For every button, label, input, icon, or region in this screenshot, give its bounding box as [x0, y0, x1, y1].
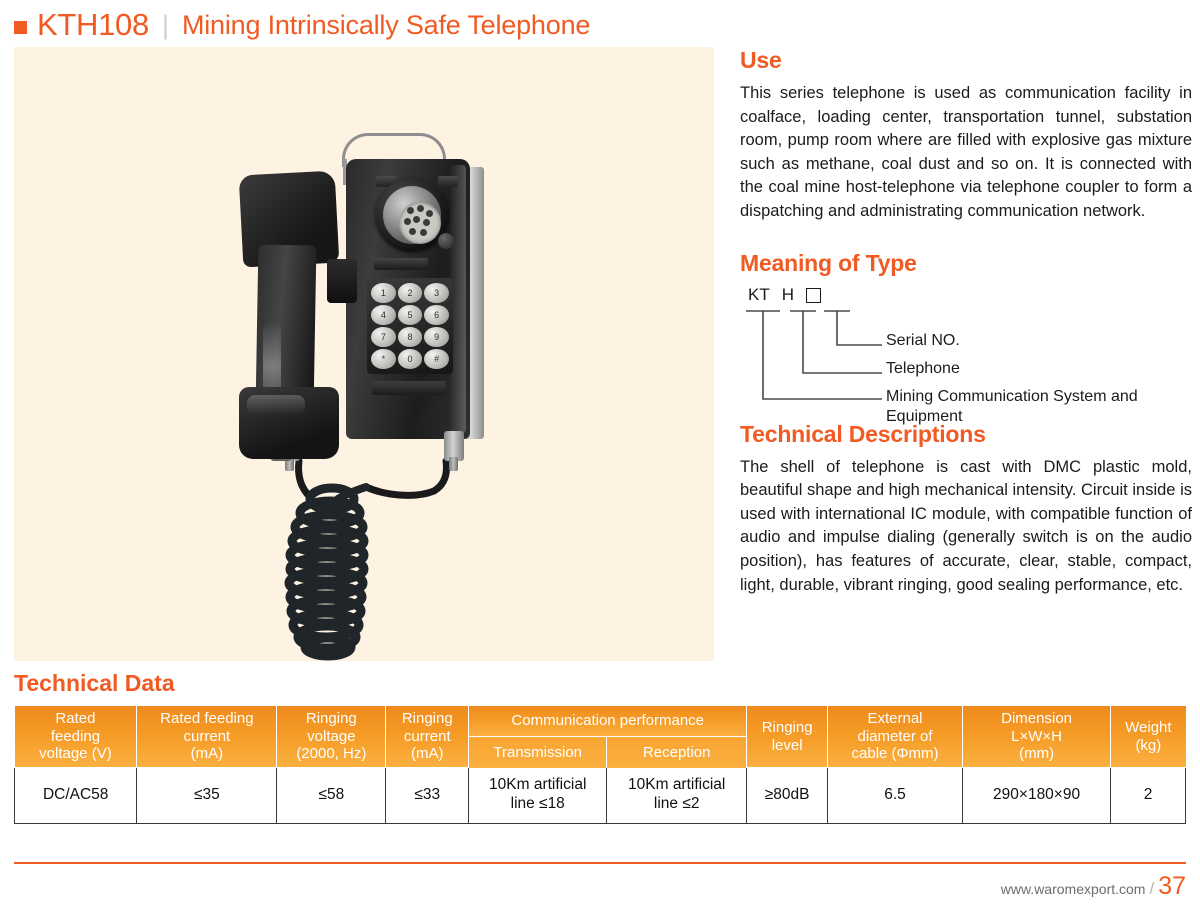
product-photo: 1 2 3 4 5 6 7 8 9 * 0 #	[14, 47, 714, 661]
keypad-key[interactable]: 7	[371, 327, 396, 347]
emboss-label	[374, 258, 428, 270]
technical-descriptions-body: The shell of telephone is cast with DMC …	[740, 456, 1192, 598]
td-ringing-current: ≤33	[386, 768, 469, 824]
keypad-key[interactable]: *	[371, 349, 396, 369]
bell-hole	[423, 219, 430, 226]
cable-gland-tip-right	[449, 457, 458, 471]
type-label-mining: Mining Communication System and Equipmen…	[886, 387, 1192, 427]
bell-hole	[407, 207, 414, 214]
bell-face	[399, 202, 441, 244]
product-model: KTH108	[37, 7, 149, 43]
keypad-key[interactable]: 8	[398, 327, 423, 347]
footer-divider	[14, 862, 1186, 864]
telephone-illustration: 1 2 3 4 5 6 7 8 9 * 0 #	[14, 47, 714, 661]
product-description: Mining Intrinsically Safe Telephone	[182, 10, 590, 41]
th-reception: Reception	[607, 737, 747, 768]
td-reception: 10Km artificial line ≤2	[607, 768, 747, 824]
keypad-key[interactable]: 5	[398, 305, 423, 325]
right-content-column: Use This series telephone is used as com…	[740, 47, 1192, 597]
technical-data-table: Rated feeding voltage (V) Rated feeding …	[14, 706, 1186, 824]
type-label-serial: Serial NO.	[886, 331, 960, 351]
td-weight: 2	[1111, 768, 1186, 824]
emboss-mark-right	[438, 176, 458, 187]
table-row: DC/AC58 ≤35 ≤58 ≤33 10Km artificial line…	[15, 768, 1186, 824]
keypad-key[interactable]: 4	[371, 305, 396, 325]
bell-hole	[404, 218, 411, 225]
page-title: KTH108 | Mining Intrinsically Safe Telep…	[14, 6, 590, 44]
keypad-key[interactable]: 0	[398, 349, 423, 369]
table-header-row-1: Rated feeding voltage (V) Rated feeding …	[15, 706, 1186, 737]
td-transmission: 10Km artificial line ≤18	[469, 768, 607, 824]
th-external-diameter: External diameter of cable (Φmm)	[828, 706, 963, 768]
bell-hole	[426, 210, 433, 217]
keypad-key[interactable]: 9	[424, 327, 449, 347]
title-separator: |	[162, 10, 169, 41]
footer-separator: /	[1149, 879, 1154, 899]
bottom-label-plate	[372, 381, 446, 395]
td-rated-feeding-current: ≤35	[137, 768, 277, 824]
td-ringing-level: ≥80dB	[747, 768, 828, 824]
td-ringing-voltage: ≤58	[277, 768, 386, 824]
square-bullet-icon	[14, 21, 27, 34]
keypad-key[interactable]: 3	[424, 283, 449, 303]
keypad-key[interactable]: 2	[398, 283, 423, 303]
bell-hole	[417, 205, 424, 212]
th-transmission: Transmission	[469, 737, 607, 768]
type-meaning-diagram: KT H Serial NO. Telephone Mining Co	[740, 285, 1192, 407]
meaning-of-type-heading: Meaning of Type	[740, 250, 1192, 277]
th-ringing-voltage: Ringing voltage (2000, Hz)	[277, 706, 386, 768]
use-heading: Use	[740, 47, 1192, 74]
keypad-key[interactable]: 1	[371, 283, 396, 303]
th-rated-feeding-voltage: Rated feeding voltage (V)	[15, 706, 137, 768]
screw-icon	[438, 233, 454, 249]
keypad[interactable]: 1 2 3 4 5 6 7 8 9 * 0 #	[367, 278, 453, 374]
footer-website[interactable]: www.waromexport.com	[1001, 881, 1146, 897]
type-label-telephone: Telephone	[886, 359, 960, 379]
td-rated-feeding-voltage: DC/AC58	[15, 768, 137, 824]
bell-hole	[409, 228, 416, 235]
use-body: This series telephone is used as communi…	[740, 82, 1192, 224]
th-dimension: Dimension L×W×H (mm)	[962, 706, 1110, 768]
td-external-diameter: 6.5	[828, 768, 963, 824]
bell-ring	[383, 186, 441, 244]
page-number: 37	[1158, 872, 1186, 901]
handset	[227, 173, 339, 461]
keypad-key[interactable]: #	[424, 349, 449, 369]
keypad-key[interactable]: 6	[424, 305, 449, 325]
bell-hole	[420, 229, 427, 236]
handset-hook-arm	[327, 259, 357, 303]
th-rated-feeding-current: Rated feeding current (mA)	[137, 706, 277, 768]
handset-mouth-gloss	[247, 395, 305, 415]
th-weight: Weight (kg)	[1111, 706, 1186, 768]
footer: www.waromexport.com / 37	[1001, 872, 1186, 901]
bell-hole	[413, 216, 420, 223]
th-ringing-current: Ringing current (mA)	[386, 706, 469, 768]
th-ringing-level: Ringing level	[747, 706, 828, 768]
th-communication-performance: Communication performance	[469, 706, 747, 737]
technical-data-heading: Technical Data	[14, 670, 175, 697]
td-dimension: 290×180×90	[962, 768, 1110, 824]
